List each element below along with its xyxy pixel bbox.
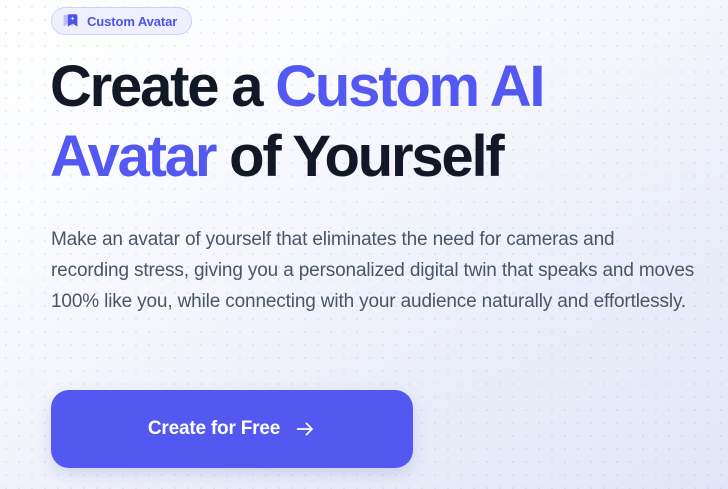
page-title: Create a Custom AI Avatar of Yourself: [50, 52, 690, 192]
heading-line2-plain: of Yourself: [215, 124, 502, 189]
arrow-right-icon: [294, 418, 316, 440]
badge-label: Custom Avatar: [87, 15, 177, 28]
heading-line1-plain: Create a: [50, 54, 275, 119]
bookmark-sparkle-icon: [62, 13, 79, 30]
heading-line2-accent: Avatar: [50, 124, 215, 189]
create-for-free-button[interactable]: Create for Free: [51, 390, 413, 468]
hero-description: Make an avatar of yourself that eliminat…: [51, 224, 696, 317]
hero-section: Custom Avatar Create a Custom AI Avatar …: [0, 0, 728, 489]
heading-line1-accent: Custom AI: [275, 54, 543, 119]
custom-avatar-badge[interactable]: Custom Avatar: [51, 7, 192, 35]
cta-label: Create for Free: [148, 418, 280, 440]
